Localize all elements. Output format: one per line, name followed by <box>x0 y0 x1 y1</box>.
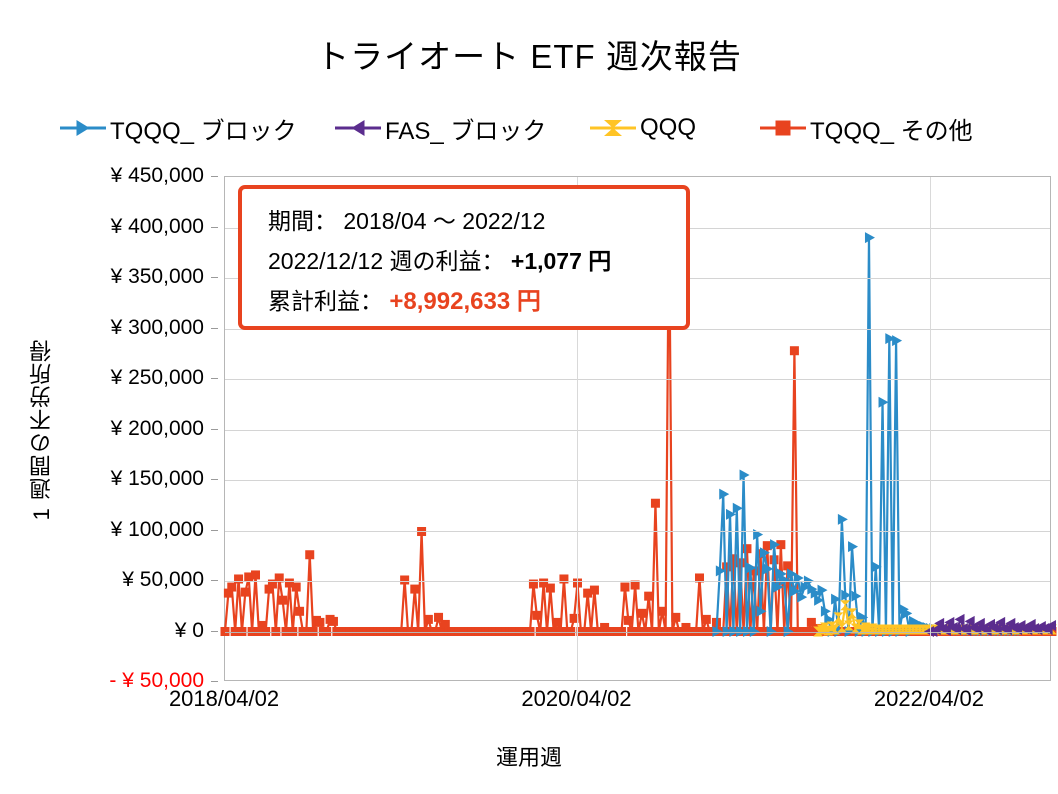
y-tick-mark <box>211 631 218 632</box>
callout-weekly-value: +1,077 円 <box>511 248 611 274</box>
callout-total-row: 累計利益： +8,992,633 円 <box>268 281 686 322</box>
legend-item-0[interactable]: TQQQ_ ブロック <box>60 108 297 148</box>
gridline <box>225 480 1050 481</box>
callout-period-row: 期間： 2018/04 〜 2022/12 <box>268 201 686 241</box>
data-point-marker <box>620 583 629 592</box>
gridline <box>225 430 1050 431</box>
y-tick-label: ¥ 150,000 <box>111 467 204 491</box>
y-tick-label: ¥ 300,000 <box>111 316 204 340</box>
chart-legend: TQQQ_ ブロックFAS_ ブロックQQQTQQQ_ その他 <box>60 108 1010 148</box>
data-point-marker <box>410 585 419 594</box>
data-point-marker <box>424 615 433 624</box>
legend-label: QQQ <box>640 114 696 142</box>
callout-period-label: 期間： <box>268 208 337 234</box>
y-tick-label: ¥ 0 <box>175 619 204 643</box>
data-point-marker <box>417 527 426 536</box>
legend-label: FAS_ ブロック <box>385 111 546 146</box>
data-point-marker <box>227 583 236 592</box>
x-tick-label: 2022/04/02 <box>874 686 984 712</box>
y-tick-mark <box>211 277 218 278</box>
data-point-marker <box>658 607 667 616</box>
data-point-marker <box>590 586 599 595</box>
legend-label: TQQQ_ ブロック <box>110 111 297 146</box>
y-tick-mark <box>211 530 218 531</box>
legend-label: TQQQ_ その他 <box>810 111 973 146</box>
page-title: トライオート ETF 週次報告 <box>0 30 1058 78</box>
x-axis-title: 運用週 <box>0 740 1058 772</box>
callout-weekly-row: 2022/12/12 週の利益： +1,077 円 <box>268 241 686 281</box>
y-tick-label: ¥ 250,000 <box>111 366 204 390</box>
data-point-marker <box>241 588 250 597</box>
data-point-marker <box>736 558 745 567</box>
y-tick-label: ¥ 350,000 <box>111 265 204 289</box>
y-tick-mark <box>211 227 218 228</box>
data-point-marker <box>624 616 633 625</box>
data-point-marker <box>234 574 243 583</box>
y-tick-mark <box>211 681 218 682</box>
x-tick-label: 2020/04/02 <box>521 686 631 712</box>
y-axis-title: 1 週間の不労所得 <box>22 300 62 560</box>
y-axis: ¥ 450,000¥ 400,000¥ 350,000¥ 300,000¥ 25… <box>86 176 218 681</box>
y-tick-label: ¥ 200,000 <box>111 417 204 441</box>
data-point-marker <box>278 596 287 605</box>
data-point-marker <box>400 575 409 584</box>
y-tick-mark <box>211 580 218 581</box>
y-tick-mark <box>211 328 218 329</box>
data-point-marker <box>742 544 751 553</box>
legend-item-3[interactable]: TQQQ_ その他 <box>760 108 973 148</box>
callout-weekly-label: 2022/12/12 週の利益： <box>268 248 505 274</box>
data-point-marker <box>553 618 562 627</box>
legend-marker-triangle-right-icon <box>60 117 106 139</box>
data-point-marker <box>671 613 680 622</box>
summary-callout: 期間： 2018/04 〜 2022/12 2022/12/12 週の利益： +… <box>238 185 690 330</box>
data-point-marker <box>559 574 568 583</box>
x-tick-label: 2018/04/02 <box>169 686 279 712</box>
data-point-marker <box>532 611 541 620</box>
series-line <box>716 238 1021 632</box>
data-point-marker <box>546 584 555 593</box>
y-tick-mark <box>211 378 218 379</box>
legend-marker-triangle-left-icon <box>335 117 381 139</box>
data-point-marker <box>790 346 799 355</box>
y-tick-mark <box>211 429 218 430</box>
data-point-marker <box>295 607 304 616</box>
y-tick-mark <box>211 176 218 177</box>
y-tick-label: ¥ 100,000 <box>111 518 204 542</box>
data-point-marker <box>329 617 338 626</box>
callout-period-value: 2018/04 〜 2022/12 <box>343 208 545 234</box>
legend-marker-square-icon <box>760 117 806 139</box>
gridline <box>225 379 1050 380</box>
y-tick-mark <box>211 479 218 480</box>
legend-marker-bowtie-icon <box>590 117 636 139</box>
axis-zero-line <box>225 632 1050 633</box>
y-tick-label: ¥ 450,000 <box>111 164 204 188</box>
data-point-marker <box>637 609 646 618</box>
data-point-marker <box>644 592 653 601</box>
callout-total-label: 累計利益： <box>268 288 383 314</box>
callout-total-value: +8,992,633 円 <box>389 288 540 315</box>
data-point-marker <box>702 615 711 624</box>
data-point-marker <box>315 618 324 627</box>
data-point-marker <box>305 550 314 559</box>
gridline <box>225 531 1050 532</box>
series-TQQQ_ ブロック <box>712 232 1027 637</box>
x-gridline <box>930 177 931 680</box>
data-point-marker <box>651 499 660 508</box>
y-axis-title-label: 1 週間の不労所得 <box>26 339 58 520</box>
gridline <box>225 581 1050 582</box>
data-point-marker <box>292 583 301 592</box>
y-tick-label: ¥ 400,000 <box>111 215 204 239</box>
y-tick-label: ¥ 50,000 <box>122 568 204 592</box>
data-point-marker <box>251 570 260 579</box>
legend-item-1[interactable]: FAS_ ブロック <box>335 108 546 148</box>
legend-item-2[interactable]: QQQ <box>590 108 696 148</box>
